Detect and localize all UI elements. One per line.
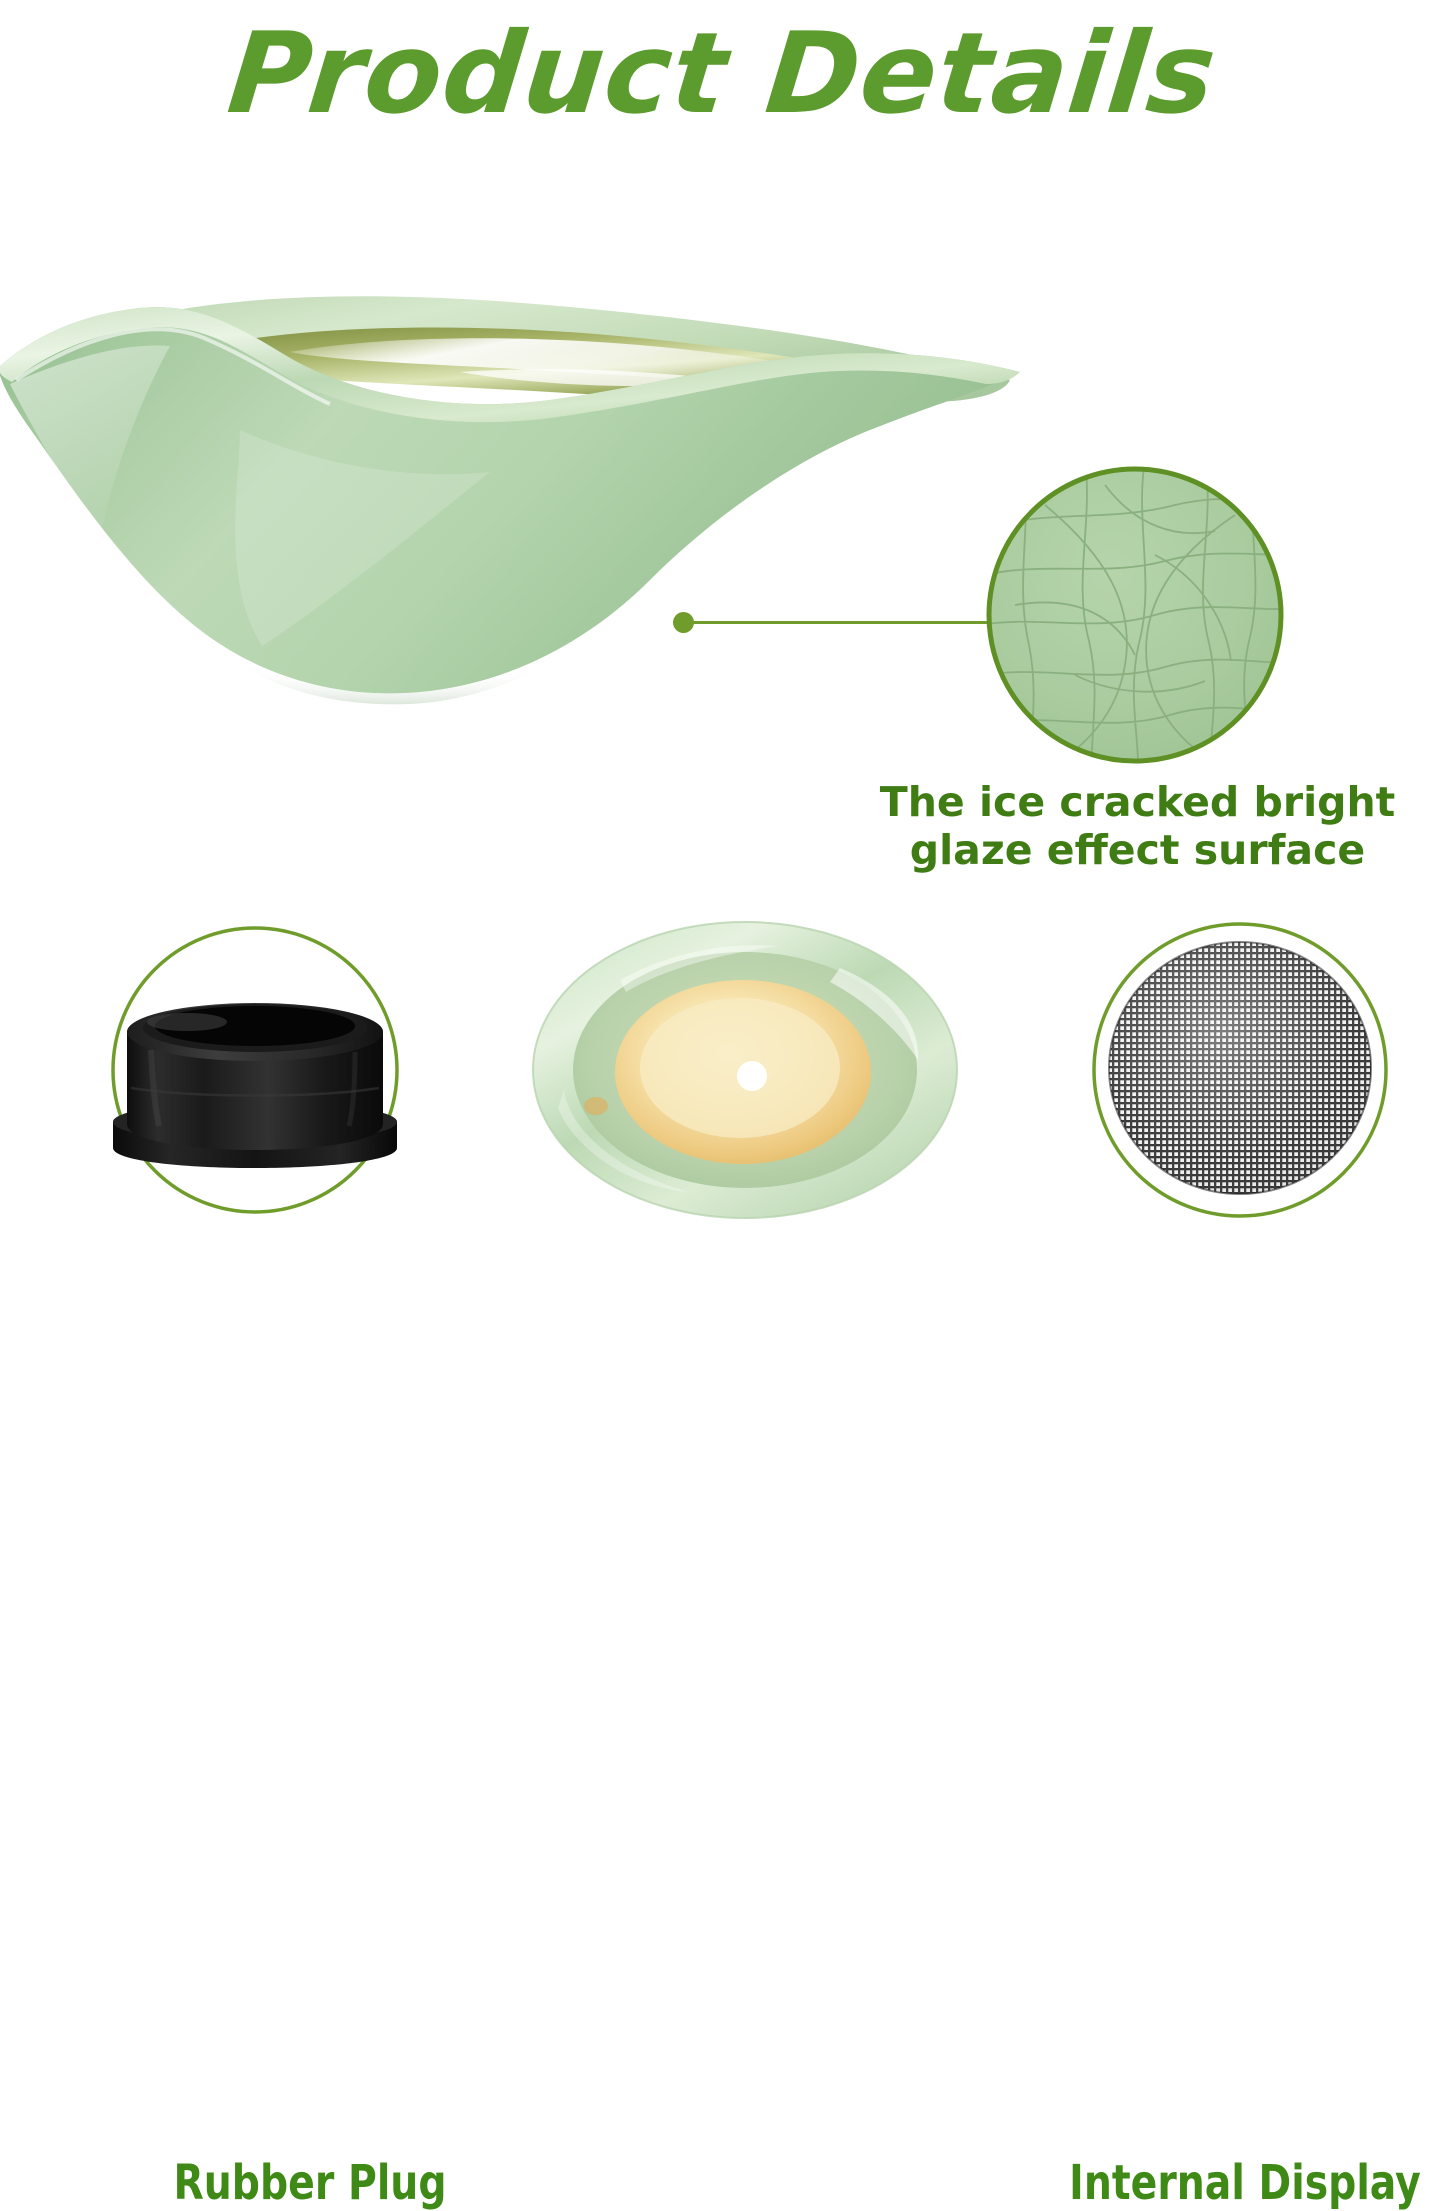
feature-internal-display: Internal Display (500, 910, 990, 1310)
callout-caption-line2: glaze effect surface (830, 826, 1445, 874)
product-details-infographic: Product Details (0, 0, 1445, 1310)
callout-caption-line1: The ice cracked bright (830, 778, 1445, 826)
feature-label-internal-display: Internal Display (1044, 2155, 1445, 2211)
feature-mesh-pad: Mesh Pad (1040, 910, 1440, 1310)
display-drain-hole (737, 1061, 767, 1091)
callout-caption: The ice cracked bright glaze effect surf… (830, 778, 1445, 874)
crackle-glaze-zoom-circle (985, 465, 1285, 765)
rubber-plug-art (55, 910, 455, 1230)
callout-leader-line (690, 621, 990, 624)
feature-rubber-plug: Rubber Plug (55, 910, 455, 1310)
hero-product-image (0, 280, 1030, 710)
feature-label-rubber-plug: Rubber Plug (146, 2155, 474, 2211)
internal-display-art (500, 910, 990, 1230)
display-glaze-speck (584, 1097, 608, 1115)
mesh-pad-art (1040, 910, 1440, 1230)
plug-highlight-left (147, 1013, 227, 1031)
page-title: Product Details (0, 14, 1445, 134)
